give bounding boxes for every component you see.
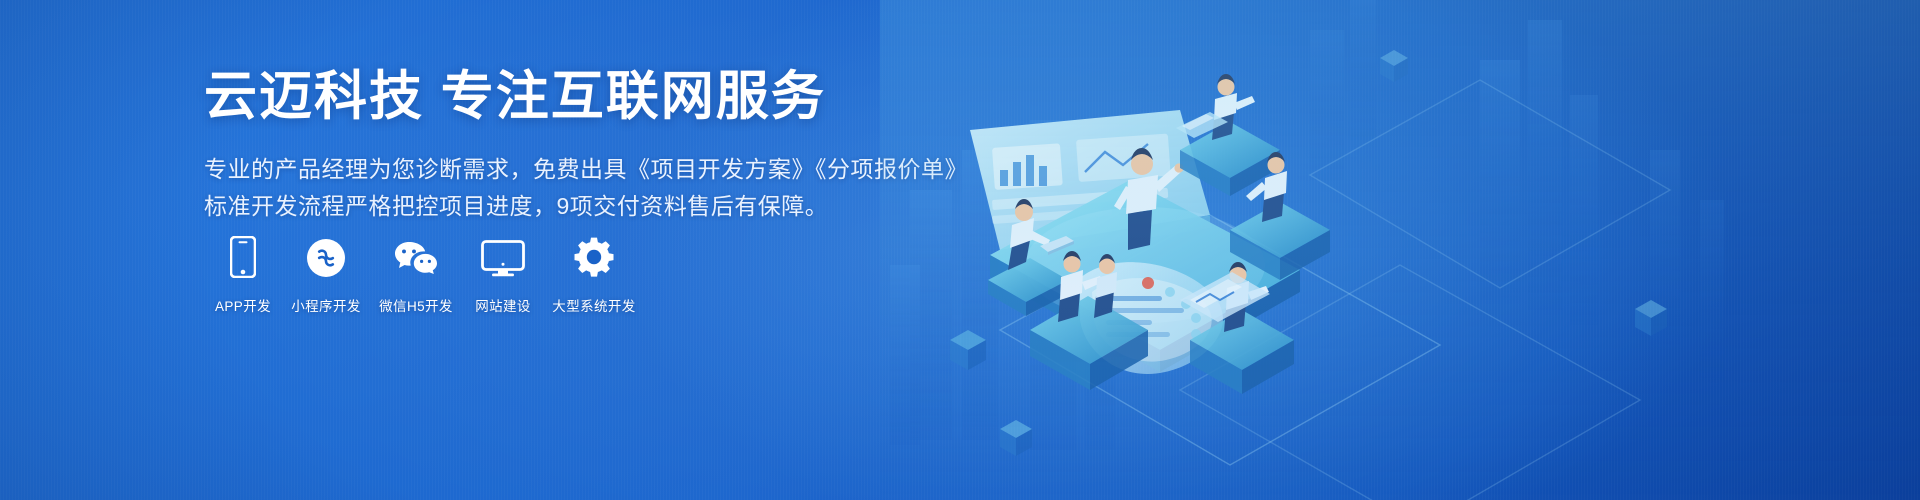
mobile-phone-icon <box>230 232 256 278</box>
service-label-miniprogram: 小程序开发 <box>291 295 361 315</box>
service-label-website: 网站建设 <box>475 295 531 315</box>
mini-program-icon <box>306 232 346 278</box>
service-item-large-system[interactable]: 大型系统开发 <box>544 232 644 315</box>
promo-banner: 云迈科技 专注互联网服务 专业的产品经理为您诊断需求，免费出具《项目开发方案》《… <box>0 0 1920 500</box>
gear-icon <box>573 232 615 278</box>
wechat-icon <box>393 232 439 278</box>
service-label-app: APP开发 <box>215 295 271 315</box>
illustration-glow <box>880 0 1920 500</box>
service-item-app[interactable]: APP开发 <box>204 232 282 315</box>
monitor-icon <box>481 232 525 278</box>
service-item-website[interactable]: 网站建设 <box>462 232 544 315</box>
service-item-wechat-h5[interactable]: 微信H5开发 <box>370 232 462 315</box>
service-label-wechat-h5: 微信H5开发 <box>379 295 453 315</box>
service-item-miniprogram[interactable]: 小程序开发 <box>282 232 370 315</box>
service-label-large-system: 大型系统开发 <box>552 295 635 315</box>
isometric-data-platform-illustration <box>880 0 1920 500</box>
service-icon-row: APP开发 小程序开发 <box>204 232 644 315</box>
